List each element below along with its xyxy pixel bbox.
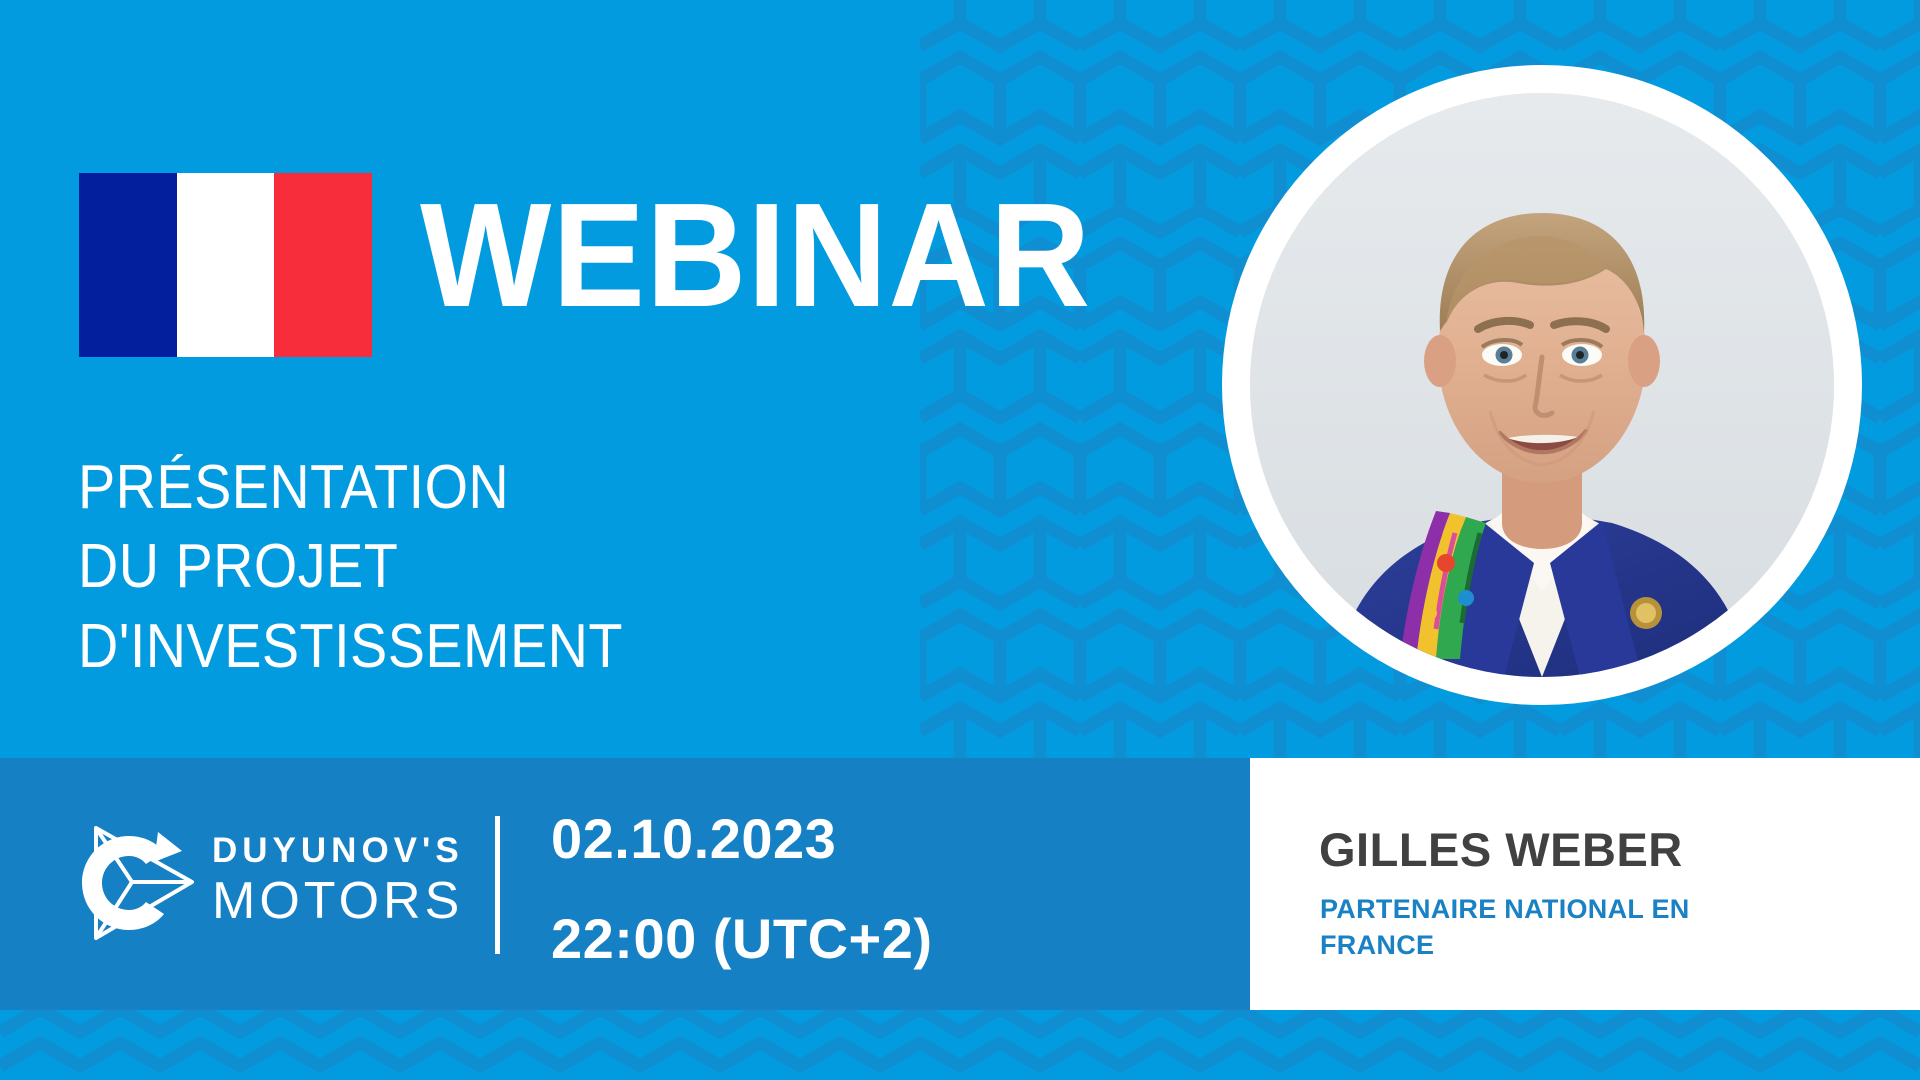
brand-name-line-2: MOTORS xyxy=(212,875,464,927)
speaker-panel xyxy=(1250,758,1920,1010)
hexagon-chevron-pattern-bottom-icon xyxy=(0,1008,1920,1080)
speaker-portrait xyxy=(1250,93,1834,677)
vertical-divider xyxy=(495,816,500,954)
brand-name-line-1: DUYUNOV'S xyxy=(212,833,464,868)
france-flag-icon xyxy=(79,173,372,357)
brand-wordmark: DUYUNOV'S MOTORS xyxy=(212,833,464,927)
speaker-role: PARTENAIRE NATIONAL EN FRANCE xyxy=(1320,892,1740,963)
event-time: 22:00 (UTC+2) xyxy=(551,911,933,967)
webinar-banner: WEBINAR PRÉSENTATION DU PROJET D'INVESTI… xyxy=(0,0,1920,1080)
page-title: WEBINAR xyxy=(420,182,1091,330)
flag-band-white xyxy=(177,173,275,357)
speaker-name: GILLES WEBER xyxy=(1319,826,1683,873)
duyunovs-motors-logo-icon xyxy=(66,812,196,952)
subtitle: PRÉSENTATION DU PROJET D'INVESTISSEMENT xyxy=(78,448,623,686)
event-date: 02.10.2023 xyxy=(551,811,933,867)
speaker-avatar xyxy=(1222,65,1862,705)
event-datetime: 02.10.2023 22:00 (UTC+2) xyxy=(551,811,933,967)
subtitle-line-3: D'INVESTISSEMENT xyxy=(78,607,623,686)
flag-band-blue xyxy=(79,173,177,357)
flag-band-red xyxy=(274,173,372,357)
subtitle-line-1: PRÉSENTATION xyxy=(78,448,623,527)
subtitle-line-2: DU PROJET xyxy=(78,527,623,606)
